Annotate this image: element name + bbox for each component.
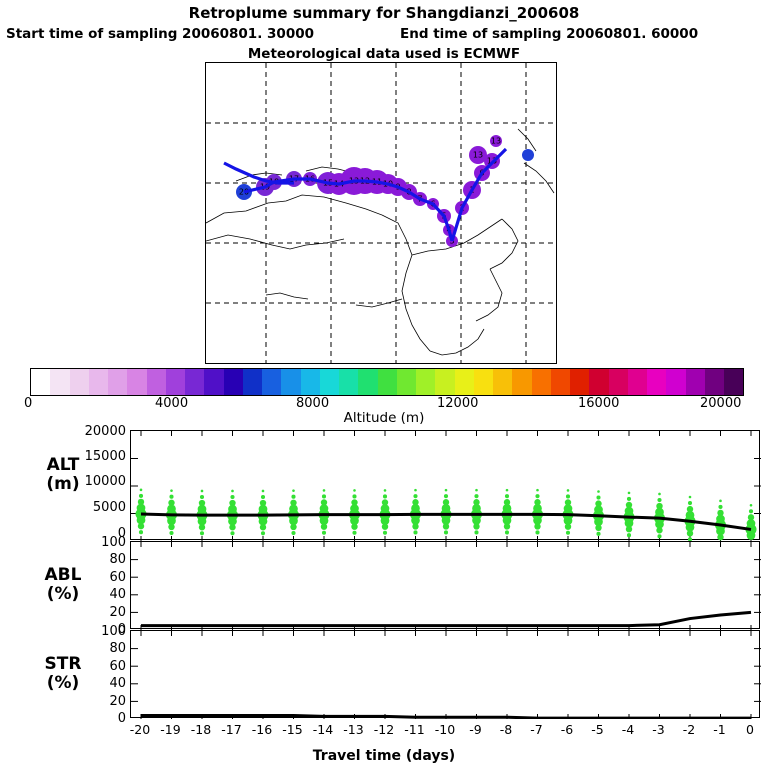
str-ytick-80: 80 bbox=[60, 641, 126, 656]
colorbar-swatch-29 bbox=[589, 369, 608, 395]
alt-scatter-point bbox=[353, 489, 356, 492]
alt-scatter-point bbox=[323, 489, 326, 492]
alt-scatter-point bbox=[139, 530, 143, 534]
colorbar-swatch-13 bbox=[281, 369, 300, 395]
str-plot bbox=[130, 630, 760, 718]
alt-scatter-point bbox=[717, 510, 723, 516]
colorbar-tick-12000: 12000 bbox=[437, 396, 478, 411]
alt-scatter-point bbox=[474, 494, 478, 498]
colorbar-swatch-0 bbox=[31, 369, 50, 395]
alt-scatter-point bbox=[534, 523, 540, 529]
colorbar-swatch-23 bbox=[474, 369, 493, 395]
alt-scatter-point bbox=[473, 523, 479, 529]
alt-scatter-point bbox=[719, 500, 722, 503]
alt-scatter-point bbox=[658, 493, 661, 496]
alt-scatter-point bbox=[352, 531, 356, 535]
alt-scatter-point bbox=[565, 524, 571, 530]
alt-scatter-point bbox=[170, 489, 173, 492]
alt-scatter-point bbox=[626, 526, 632, 532]
alt-scatter-point bbox=[595, 500, 601, 506]
alt-scatter-point bbox=[351, 524, 357, 530]
colorbar-swatch-35 bbox=[705, 369, 724, 395]
alt-scatter-point bbox=[443, 499, 449, 505]
alt-scatter-point bbox=[747, 531, 756, 540]
abl-plot bbox=[130, 541, 760, 629]
alt-scatter-point bbox=[260, 500, 266, 506]
alt-scatter-point bbox=[230, 531, 234, 535]
alt-scatter-point bbox=[656, 503, 662, 509]
colorbar-swatch-16 bbox=[339, 369, 358, 395]
str-ytick-20: 20 bbox=[60, 694, 126, 709]
alt-scatter-point bbox=[260, 524, 266, 530]
alt-scatter-point bbox=[688, 501, 692, 505]
alt-ytick-5000: 5000 bbox=[60, 500, 126, 515]
colorbar-swatch-9 bbox=[204, 369, 223, 395]
colorbar-swatch-19 bbox=[397, 369, 416, 395]
abl-ytick-100: 100 bbox=[60, 535, 126, 550]
start-time-label: Start time of sampling 20060801. 30000 bbox=[6, 26, 386, 42]
colorbar-swatch-7 bbox=[166, 369, 185, 395]
colorbar-swatch-10 bbox=[224, 369, 243, 395]
colorbar-swatch-30 bbox=[609, 369, 628, 395]
alt-scatter-point bbox=[413, 530, 417, 534]
abl-line bbox=[141, 612, 751, 625]
alt-scatter-point bbox=[536, 489, 539, 492]
alt-scatter-point bbox=[201, 490, 204, 493]
alt-scatter-point bbox=[384, 489, 387, 492]
alt-scatter-point bbox=[322, 494, 326, 498]
alt-plot bbox=[130, 430, 760, 540]
x-axis-title: Travel time (days) bbox=[0, 748, 768, 764]
colorbar-swatch-27 bbox=[551, 369, 570, 395]
alt-scatter-point bbox=[687, 530, 693, 536]
end-time-label: End time of sampling 20060801. 60000 bbox=[400, 26, 762, 42]
alt-scatter-point bbox=[596, 496, 600, 500]
alt-scatter-point bbox=[627, 533, 631, 537]
colorbar-swatch-20 bbox=[416, 369, 435, 395]
abl-ytick-60: 60 bbox=[60, 570, 126, 585]
alt-scatter-point bbox=[534, 499, 540, 505]
alt-scatter-point bbox=[475, 489, 478, 492]
alt-scatter-point bbox=[535, 494, 539, 498]
alt-scatter-point bbox=[138, 499, 144, 505]
colorbar-swatch-4 bbox=[108, 369, 127, 395]
alt-scatter-point bbox=[383, 494, 387, 498]
alt-scatter-point bbox=[412, 499, 418, 505]
alt-scatter-point bbox=[687, 506, 693, 512]
alt-scatter-point bbox=[321, 524, 327, 530]
colorbar-swatch-15 bbox=[320, 369, 339, 395]
alt-scatter-point bbox=[444, 494, 448, 498]
alt-scatter-point bbox=[748, 514, 754, 520]
colorbar-swatch-34 bbox=[686, 369, 705, 395]
svg-text:13: 13 bbox=[491, 137, 501, 146]
alt-scatter-point bbox=[261, 531, 265, 535]
colorbar bbox=[30, 368, 744, 396]
colorbar-swatch-14 bbox=[301, 369, 320, 395]
alt-ytick-10000: 10000 bbox=[60, 474, 126, 489]
colorbar-tick-8000: 8000 bbox=[296, 396, 329, 411]
alt-scatter-point bbox=[445, 489, 448, 492]
alt-scatter-point bbox=[261, 495, 265, 499]
alt-scatter-point bbox=[199, 524, 205, 530]
alt-scatter-point bbox=[474, 530, 478, 534]
alt-scatter-point bbox=[626, 502, 632, 508]
colorbar-swatch-5 bbox=[127, 369, 146, 395]
alt-scatter-point bbox=[504, 523, 510, 529]
alt-scatter-point bbox=[383, 531, 387, 535]
alt-scatter-point bbox=[443, 523, 449, 529]
alt-scatter-point bbox=[506, 489, 509, 492]
alt-scatter-point bbox=[535, 530, 539, 534]
alt-scatter-point bbox=[229, 500, 235, 506]
x-tick-label: 0 bbox=[730, 722, 768, 737]
str-ytick-40: 40 bbox=[60, 676, 126, 691]
alt-scatter-point bbox=[627, 497, 631, 501]
alt-scatter-point bbox=[749, 509, 753, 513]
alt-scatter-point bbox=[321, 499, 327, 505]
alt-scatter-point bbox=[689, 496, 692, 499]
colorbar-swatch-31 bbox=[628, 369, 647, 395]
alt-scatter-point bbox=[139, 494, 143, 498]
alt-scatter-point bbox=[505, 530, 509, 534]
colorbar-swatch-18 bbox=[378, 369, 397, 395]
alt-scatter-point bbox=[290, 524, 296, 530]
alt-scatter-point bbox=[444, 530, 448, 534]
met-data-label: Meteorological data used is ECMWF bbox=[0, 46, 768, 62]
colorbar-tick-20000: 20000 bbox=[700, 396, 741, 411]
colorbar-swatch-6 bbox=[147, 369, 166, 395]
alt-scatter-point bbox=[229, 524, 235, 530]
colorbar-swatch-33 bbox=[666, 369, 685, 395]
alt-scatter-point bbox=[322, 531, 326, 535]
alt-ytick-20000: 20000 bbox=[60, 424, 126, 439]
map-coastlines bbox=[206, 129, 554, 355]
alt-scatter-point bbox=[750, 504, 753, 507]
colorbar-swatch-3 bbox=[89, 369, 108, 395]
alt-scatter-point bbox=[657, 534, 661, 538]
alt-scatter-point bbox=[382, 524, 388, 530]
alt-scatter-point bbox=[290, 500, 296, 506]
alt-scatter-point bbox=[717, 534, 723, 540]
colorbar-swatch-24 bbox=[493, 369, 512, 395]
map-gridlines bbox=[206, 63, 556, 363]
alt-scatter-point bbox=[292, 489, 295, 492]
colorbar-swatch-2 bbox=[70, 369, 89, 395]
alt-ytick-15000: 15000 bbox=[60, 449, 126, 464]
alt-scatter-point bbox=[628, 492, 631, 495]
alt-scatter-point bbox=[597, 490, 600, 493]
alt-scatter-point bbox=[230, 495, 234, 499]
alt-scatter-point bbox=[352, 494, 356, 498]
abl-ytick-20: 20 bbox=[60, 605, 126, 620]
colorbar-swatch-32 bbox=[647, 369, 666, 395]
alt-scatter-point bbox=[566, 531, 570, 535]
alt-scatter-point bbox=[567, 489, 570, 492]
alt-scatter-point bbox=[656, 527, 662, 533]
colorbar-tick-16000: 16000 bbox=[578, 396, 619, 411]
alt-scatter-point bbox=[657, 498, 661, 502]
alt-scatter-point bbox=[566, 494, 570, 498]
str-ytick-100: 100 bbox=[60, 624, 126, 639]
alt-scatter-point bbox=[168, 524, 174, 530]
colorbar-swatch-12 bbox=[262, 369, 281, 395]
alt-scatter-point bbox=[504, 499, 510, 505]
alt-scatter-point bbox=[718, 505, 722, 509]
page-title: Retroplume summary for Shangdianzi_20060… bbox=[0, 4, 768, 22]
colorbar-swatch-26 bbox=[532, 369, 551, 395]
colorbar-swatch-8 bbox=[185, 369, 204, 395]
alt-scatter-point bbox=[291, 495, 295, 499]
abl-ytick-80: 80 bbox=[60, 552, 126, 567]
colorbar-tick-4000: 4000 bbox=[155, 396, 188, 411]
alt-scatter-point bbox=[169, 531, 173, 535]
map-panel: 20 19 18 17 16 15 14 13 12 11 10 9 8 7 6… bbox=[205, 62, 557, 364]
str-ytick-60: 60 bbox=[60, 659, 126, 674]
alt-scatter-point bbox=[199, 500, 205, 506]
colorbar-swatch-17 bbox=[358, 369, 377, 395]
alt-scatter-point bbox=[382, 499, 388, 505]
alt-scatter-point bbox=[138, 523, 144, 529]
svg-text:13: 13 bbox=[473, 151, 483, 160]
alt-scatter-point bbox=[473, 499, 479, 505]
alt-scatter-point bbox=[351, 499, 357, 505]
alt-scatter-point bbox=[596, 532, 600, 536]
colorbar-swatch-1 bbox=[50, 369, 69, 395]
colorbar-swatch-36 bbox=[724, 369, 743, 395]
alt-scatter-point bbox=[200, 495, 204, 499]
alt-scatter-point bbox=[262, 490, 265, 493]
alt-scatter-point bbox=[412, 523, 418, 529]
alt-scatter-point bbox=[414, 489, 417, 492]
colorbar-swatch-25 bbox=[512, 369, 531, 395]
alt-scatter-point bbox=[168, 500, 174, 506]
alt-scatter-point bbox=[169, 495, 173, 499]
str-ytick-0: 0 bbox=[60, 711, 126, 726]
colorbar-swatch-11 bbox=[243, 369, 262, 395]
map-retroplume-blobs bbox=[236, 135, 534, 247]
alt-scatter-point bbox=[140, 489, 143, 492]
abl-ytick-40: 40 bbox=[60, 587, 126, 602]
alt-scatter-point bbox=[231, 490, 234, 493]
alt-scatter-point bbox=[595, 525, 601, 531]
alt-scatter-point bbox=[505, 494, 509, 498]
alt-scatter-point bbox=[413, 494, 417, 498]
alt-scatter-point bbox=[291, 531, 295, 535]
colorbar-tick-0: 0 bbox=[24, 396, 32, 411]
alt-scatter-point bbox=[200, 531, 204, 535]
alt-scatter-point bbox=[565, 499, 571, 505]
colorbar-swatch-21 bbox=[435, 369, 454, 395]
colorbar-swatch-28 bbox=[570, 369, 589, 395]
colorbar-swatch-22 bbox=[455, 369, 474, 395]
